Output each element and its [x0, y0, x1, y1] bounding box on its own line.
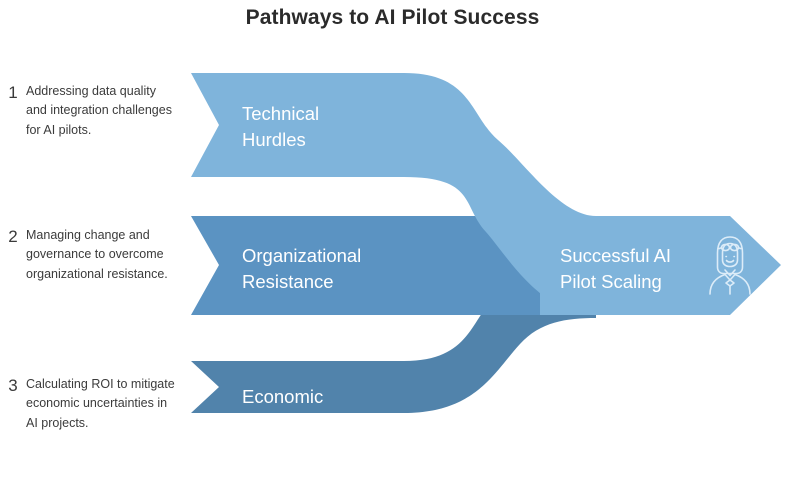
flow-ribbons	[0, 0, 785, 485]
person-avatar-icon	[702, 233, 758, 295]
diagram-canvas: Pathways to AI Pilot Success 1 Addressin…	[0, 0, 785, 485]
